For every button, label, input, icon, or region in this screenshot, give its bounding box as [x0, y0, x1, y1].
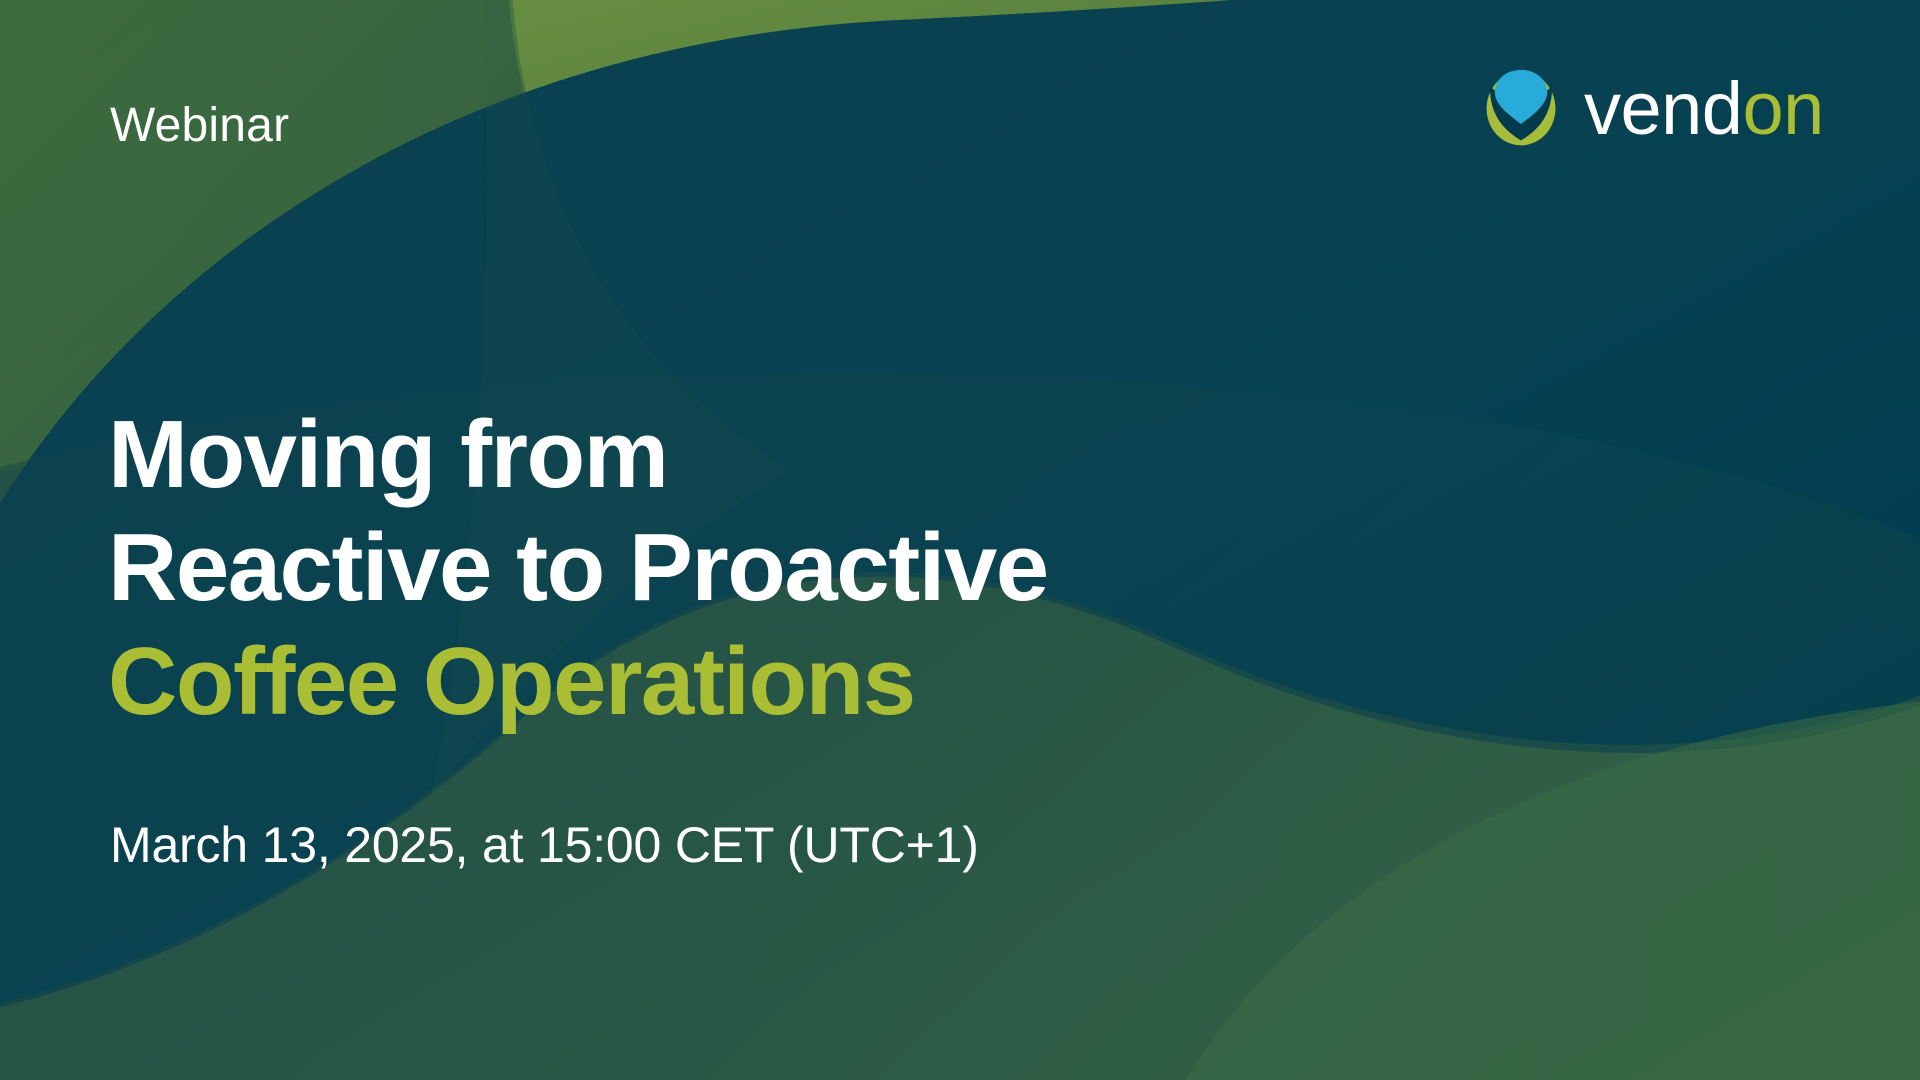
headline-line-1: Moving from: [108, 398, 1358, 511]
webinar-banner: Webinar vendon Moving from Reactive to P…: [0, 0, 1920, 1080]
wordmark-on: on: [1742, 72, 1823, 146]
vendon-wordmark: vendon: [1584, 72, 1824, 146]
eyebrow-label: Webinar: [110, 100, 289, 153]
event-date-time: March 13, 2025, at 15:00 CET (UTC+1): [110, 818, 979, 873]
wordmark-vend: vend: [1584, 72, 1742, 146]
vendon-logo[interactable]: vendon: [1480, 58, 1824, 154]
headline-line-2: Reactive to Proactive: [108, 511, 1358, 624]
headline-block: Moving from Reactive to Proactive Coffee…: [108, 398, 1358, 738]
headline-line-3: Coffee Operations: [108, 625, 1358, 738]
vendon-shield-mark-icon: [1480, 65, 1562, 147]
